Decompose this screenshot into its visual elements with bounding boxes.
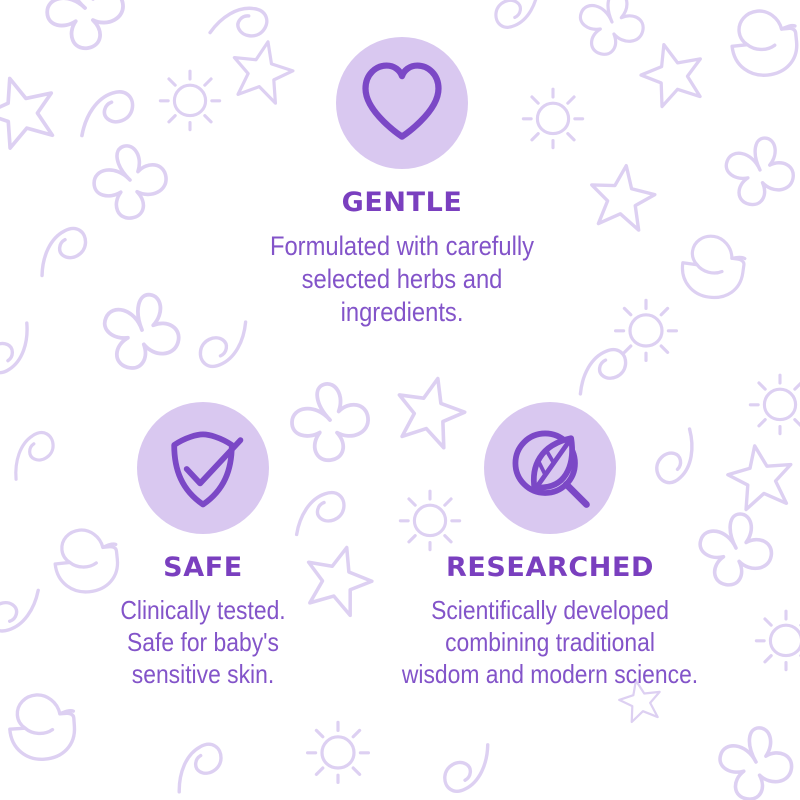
feature-title: GENTLE — [152, 189, 652, 216]
feature-description: Formulated with carefully selected herbs… — [182, 230, 622, 330]
feature-title: SAFE — [28, 554, 378, 581]
feature-grid: GENTLE Formulated with carefully selecte… — [0, 0, 800, 800]
shield-check-icon — [155, 420, 251, 516]
leaf-magnifier-icon — [502, 420, 598, 516]
gentle-icon-badge — [336, 37, 468, 169]
feature-safe: SAFE Clinically tested. Safe for baby's … — [28, 402, 378, 691]
feature-researched: RESEARCHED Scientifically developed comb… — [350, 402, 750, 691]
feature-description: Clinically tested. Safe for baby's sensi… — [49, 595, 357, 691]
researched-icon-badge — [484, 402, 616, 534]
feature-description: Scientifically developed combining tradi… — [374, 595, 726, 691]
feature-gentle: GENTLE Formulated with carefully selecte… — [152, 37, 652, 330]
heart-icon — [354, 55, 450, 151]
safe-icon-badge — [137, 402, 269, 534]
feature-title: RESEARCHED — [350, 554, 750, 581]
